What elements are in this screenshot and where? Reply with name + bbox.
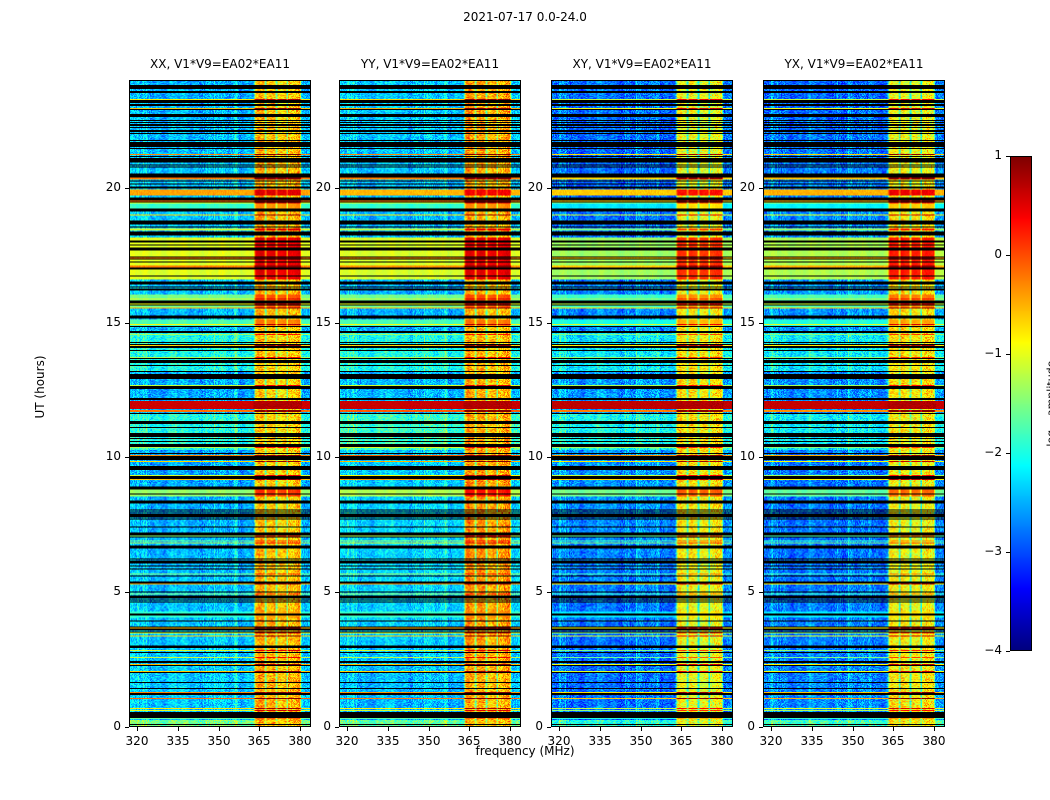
y-tick-mark	[547, 592, 551, 593]
y-tick-mark	[759, 188, 763, 189]
panel-title-yx: YX, V1*V9=EA02*EA11	[763, 57, 945, 71]
colorbar-label: log10 amplitude	[1044, 343, 1050, 463]
heatmap-panel-xy[interactable]	[551, 80, 733, 727]
y-axis-label: UT (hours)	[33, 317, 47, 457]
x-tick-label: 335	[792, 734, 832, 748]
x-tick-mark	[137, 727, 138, 731]
x-tick-mark	[641, 727, 642, 731]
x-tick-label: 350	[621, 734, 661, 748]
x-tick-mark	[469, 727, 470, 731]
y-tick-label: 15	[509, 315, 543, 329]
y-tick-label: 0	[297, 719, 331, 733]
x-tick-mark	[771, 727, 772, 731]
y-tick-mark	[335, 592, 339, 593]
x-tick-label: 365	[239, 734, 279, 748]
y-tick-mark	[547, 727, 551, 728]
y-tick-mark	[335, 727, 339, 728]
x-tick-mark	[600, 727, 601, 731]
y-tick-mark	[547, 457, 551, 458]
y-tick-mark	[759, 323, 763, 324]
x-tick-mark	[893, 727, 894, 731]
x-tick-label: 335	[580, 734, 620, 748]
y-tick-mark	[759, 727, 763, 728]
y-tick-label: 15	[721, 315, 755, 329]
y-tick-label: 0	[721, 719, 755, 733]
x-tick-label: 380	[490, 734, 530, 748]
x-tick-label: 365	[661, 734, 701, 748]
y-tick-label: 5	[721, 584, 755, 598]
x-tick-mark	[388, 727, 389, 731]
y-tick-mark	[125, 592, 129, 593]
x-tick-label: 365	[873, 734, 913, 748]
y-tick-mark	[335, 188, 339, 189]
heatmap-panel-yy[interactable]	[339, 80, 521, 727]
x-tick-label: 335	[368, 734, 408, 748]
figure-suptitle: 2021-07-17 0.0-24.0	[0, 10, 1050, 24]
colorbar-tick-mark	[1006, 552, 1010, 553]
colorbar-tick-mark	[1006, 255, 1010, 256]
x-tick-mark	[681, 727, 682, 731]
colorbar-tick-mark	[1006, 453, 1010, 454]
x-tick-label: 380	[280, 734, 320, 748]
y-tick-label: 10	[297, 449, 331, 463]
x-tick-mark	[812, 727, 813, 731]
y-tick-mark	[125, 323, 129, 324]
y-tick-label: 10	[721, 449, 755, 463]
figure-canvas: 2021-07-17 0.0-24.0 UT (hours) frequency…	[0, 0, 1050, 800]
y-tick-mark	[335, 323, 339, 324]
y-tick-mark	[125, 188, 129, 189]
x-tick-label: 350	[199, 734, 239, 748]
colorbar-tick-label: −3	[968, 544, 1002, 558]
x-tick-mark	[934, 727, 935, 731]
x-tick-mark	[429, 727, 430, 731]
y-tick-mark	[759, 457, 763, 458]
x-tick-label: 320	[327, 734, 367, 748]
y-tick-mark	[547, 188, 551, 189]
y-tick-mark	[759, 592, 763, 593]
colorbar-tick-label: −1	[968, 346, 1002, 360]
heatmap-panel-xx[interactable]	[129, 80, 311, 727]
y-tick-label: 10	[509, 449, 543, 463]
panel-title-yy: YY, V1*V9=EA02*EA11	[339, 57, 521, 71]
x-tick-label: 320	[539, 734, 579, 748]
x-tick-label: 350	[833, 734, 873, 748]
x-tick-label: 380	[914, 734, 954, 748]
colorbar-tick-mark	[1006, 651, 1010, 652]
x-tick-label: 320	[751, 734, 791, 748]
x-tick-mark	[853, 727, 854, 731]
panel-title-xx: XX, V1*V9=EA02*EA11	[129, 57, 311, 71]
y-tick-mark	[547, 323, 551, 324]
y-tick-label: 5	[509, 584, 543, 598]
y-tick-label: 0	[509, 719, 543, 733]
colorbar-tick-label: −2	[968, 445, 1002, 459]
y-tick-label: 20	[721, 180, 755, 194]
panel-title-xy: XY, V1*V9=EA02*EA11	[551, 57, 733, 71]
x-tick-label: 320	[117, 734, 157, 748]
x-tick-mark	[559, 727, 560, 731]
y-tick-label: 20	[297, 180, 331, 194]
colorbar-tick-label: −4	[968, 643, 1002, 657]
colorbar-tick-label: 0	[968, 247, 1002, 261]
y-tick-mark	[125, 727, 129, 728]
y-tick-mark	[125, 457, 129, 458]
y-tick-label: 20	[509, 180, 543, 194]
colorbar[interactable]	[1010, 156, 1032, 651]
y-tick-label: 15	[87, 315, 121, 329]
colorbar-tick-mark	[1006, 156, 1010, 157]
colorbar-tick-mark	[1006, 354, 1010, 355]
x-tick-mark	[178, 727, 179, 731]
y-tick-label: 15	[297, 315, 331, 329]
x-tick-mark	[347, 727, 348, 731]
colorbar-tick-label: 1	[968, 148, 1002, 162]
x-tick-label: 365	[449, 734, 489, 748]
x-tick-mark	[259, 727, 260, 731]
x-tick-label: 350	[409, 734, 449, 748]
y-tick-label: 5	[297, 584, 331, 598]
y-tick-mark	[335, 457, 339, 458]
colorbar-label-tail: amplitude	[1044, 360, 1050, 419]
heatmap-panel-yx[interactable]	[763, 80, 945, 727]
y-tick-label: 0	[87, 719, 121, 733]
y-tick-label: 5	[87, 584, 121, 598]
x-tick-mark	[219, 727, 220, 731]
x-tick-label: 335	[158, 734, 198, 748]
colorbar-label-log: log	[1044, 429, 1050, 446]
y-tick-label: 10	[87, 449, 121, 463]
y-tick-label: 20	[87, 180, 121, 194]
x-tick-label: 380	[702, 734, 742, 748]
